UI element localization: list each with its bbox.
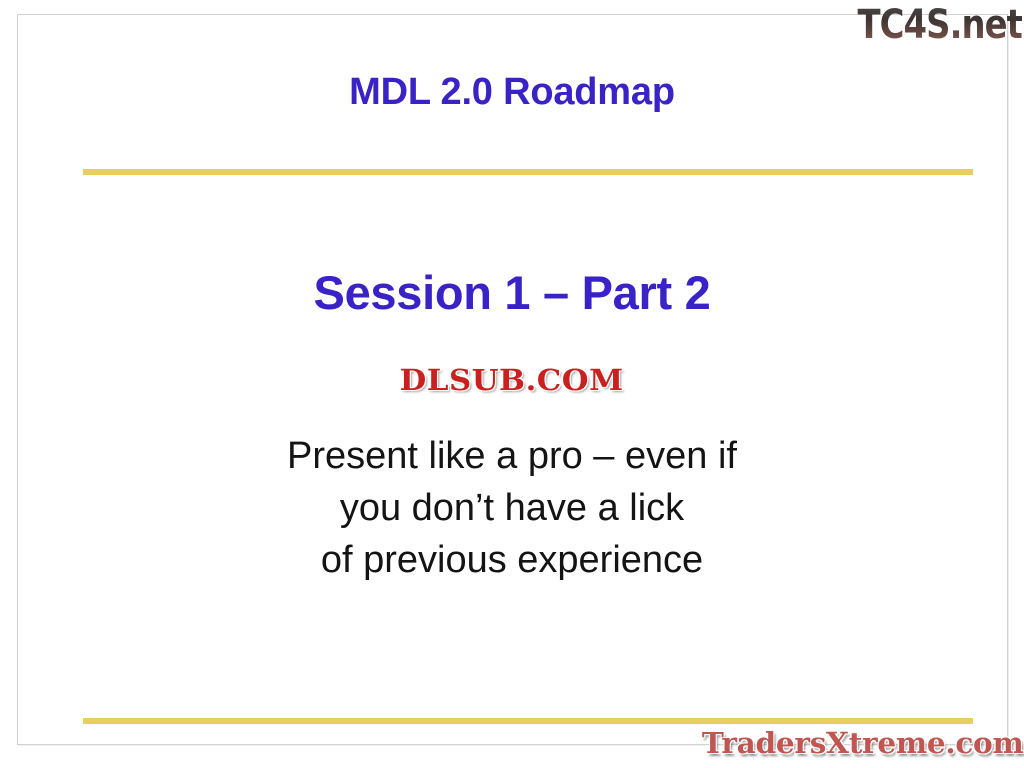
page-title: MDL 2.0 Roadmap (0, 72, 1024, 114)
body-copy-line-2: you don’t have a lick (0, 482, 1024, 534)
body-copy-line-1: Present like a pro – even if (0, 430, 1024, 482)
divider-rule-bottom (83, 718, 973, 724)
body-copy: Present like a pro – even if you don’t h… (0, 430, 1024, 586)
tradersxtreme-logo: TradersXtreme.com (702, 726, 1024, 760)
divider-rule-top (83, 169, 973, 175)
tc4s-logo: TC4S.net (858, 2, 1022, 48)
session-heading: Session 1 – Part 2 (0, 267, 1024, 319)
slide-frame (17, 14, 1008, 745)
body-copy-line-3: of previous experience (0, 534, 1024, 586)
